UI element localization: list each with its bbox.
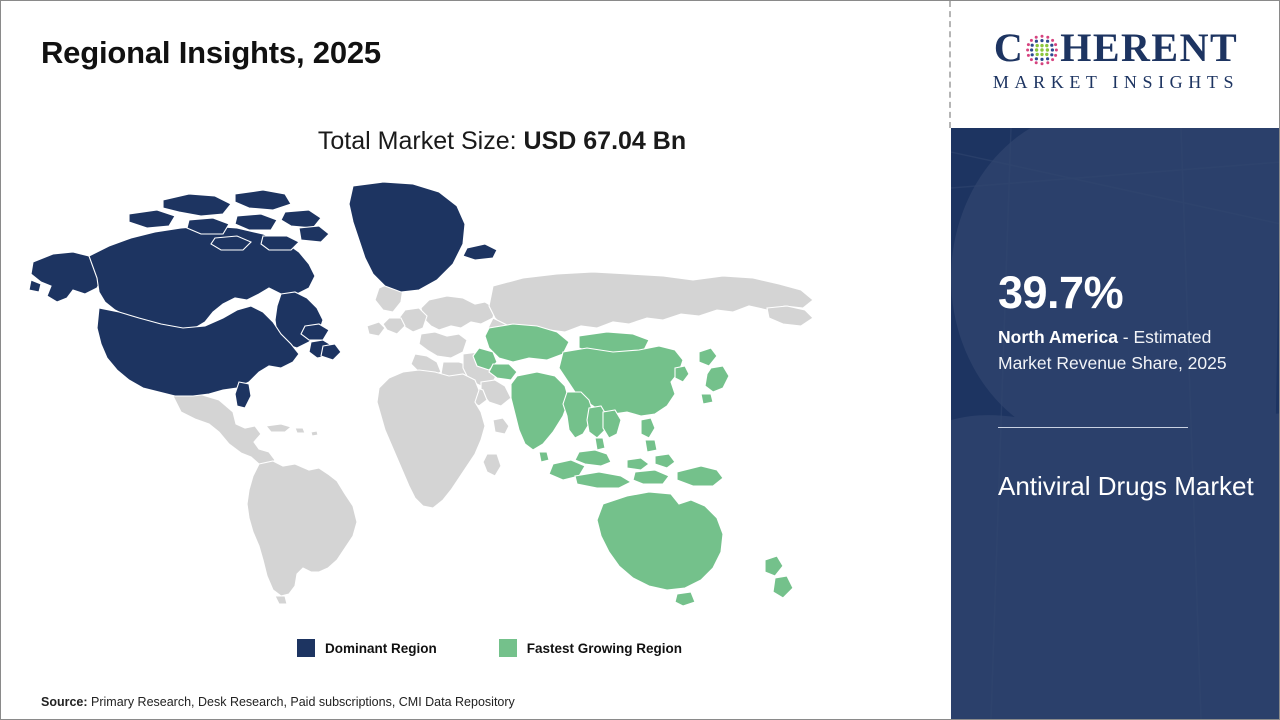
stat-divider-rule [998, 427, 1188, 428]
logo-tagline: MARKET INSIGHTS [993, 72, 1239, 93]
left-panel: Regional Insights, 2025 Total Market Siz… [1, 1, 949, 719]
source-text: Primary Research, Desk Research, Paid su… [88, 695, 515, 709]
logo-letter-c: C [994, 28, 1024, 68]
stat-percent-value: 39.7% [998, 270, 1123, 315]
page-title: Regional Insights, 2025 [41, 35, 381, 71]
source-label: Source: [41, 695, 88, 709]
world-map [23, 176, 843, 616]
legend-item-fastest-growing: Fastest Growing Region [499, 639, 682, 657]
coherent-market-insights-logo: C [970, 28, 1262, 93]
map-legend: Dominant Region Fastest Growing Region [297, 639, 682, 657]
stat-panel: 39.7% North America - Estimated Market R… [951, 128, 1280, 719]
legend-swatch-dominant [297, 639, 315, 657]
market-size-value: USD 67.04 Bn [524, 127, 687, 155]
total-market-size: Total Market Size: USD 67.04 Bn [1, 127, 949, 156]
market-name: Antiviral Drugs Market [998, 469, 1268, 505]
legend-item-dominant: Dominant Region [297, 639, 437, 657]
stat-region-name: North America [998, 327, 1118, 347]
logo-text-herent: HERENT [1060, 28, 1238, 68]
stat-content: 39.7% North America - Estimated Market R… [998, 128, 1273, 719]
logo-area: C [951, 1, 1280, 128]
market-size-label: Total Market Size: [318, 127, 524, 155]
globe-dots-icon [1025, 33, 1059, 67]
legend-label-dominant: Dominant Region [325, 641, 437, 656]
legend-swatch-fastest-growing [499, 639, 517, 657]
infographic-root: Regional Insights, 2025 Total Market Siz… [0, 0, 1280, 720]
map-fastest-growing-region [473, 324, 793, 606]
right-column: C [951, 1, 1280, 719]
source-note: Source: Primary Research, Desk Research,… [41, 695, 515, 709]
legend-label-fastest-growing: Fastest Growing Region [527, 641, 682, 656]
stat-description: North America - Estimated Market Revenue… [998, 324, 1264, 377]
logo-wordmark: C [994, 28, 1238, 68]
